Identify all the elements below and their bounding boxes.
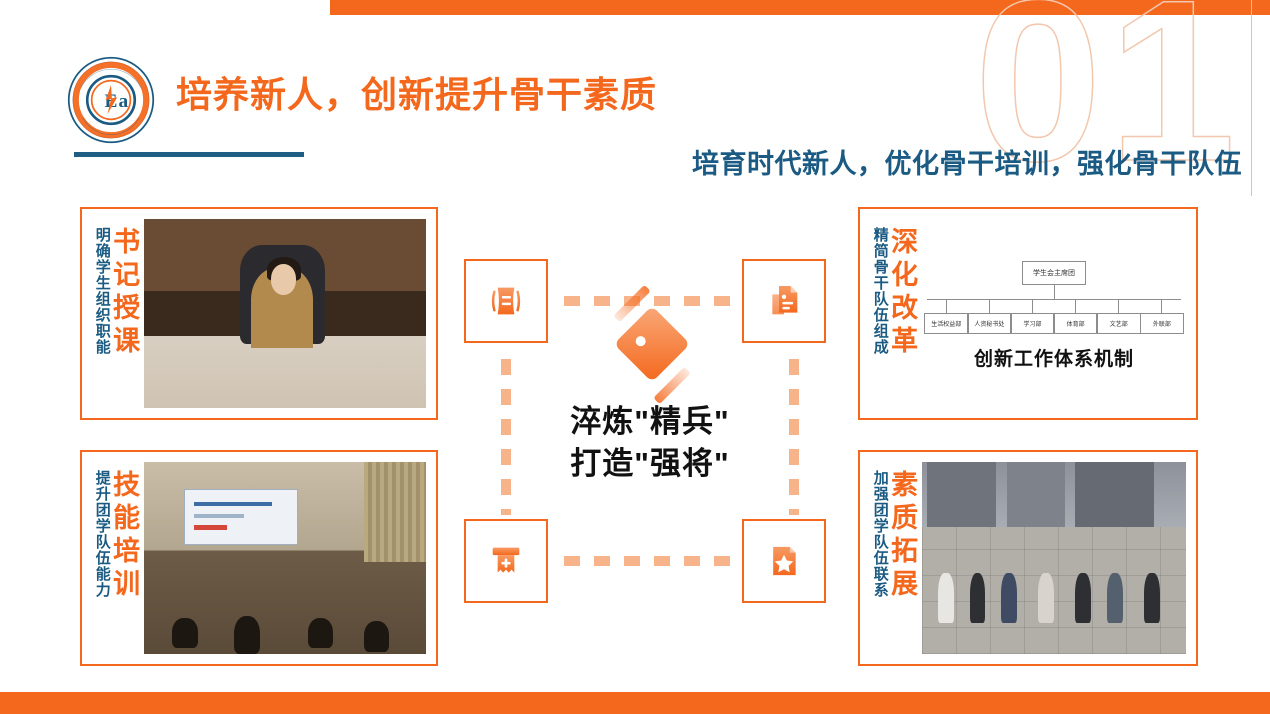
org-connector-drop — [989, 300, 990, 313]
lecture-hall-training-photo — [144, 462, 426, 654]
org-child-node: 学习部 — [1011, 313, 1055, 334]
diagram-node-bottom-right[interactable] — [742, 519, 826, 603]
org-child-node: 人资秘书处 — [968, 313, 1012, 334]
photo-detail-face — [271, 264, 296, 294]
org-child-node: 体育部 — [1054, 313, 1098, 334]
dashed-connector-bottom — [564, 556, 738, 566]
card-party-secretary-lecture[interactable]: 书记授课 明确学生组织职能 — [80, 207, 438, 420]
org-children-row: 生活权益部 人资秘书处 学习部 体育部 — [925, 300, 1184, 334]
photo-detail-building — [927, 462, 996, 527]
page-subtitle: 培育时代新人，优化骨干培训，强化骨干队伍 — [692, 142, 1242, 181]
diagram-node-bottom-left[interactable] — [464, 519, 548, 603]
title-underline-rule — [74, 152, 304, 157]
org-root-node: 学生会主席团 — [1022, 261, 1086, 285]
card-main-label: 技能培训 — [110, 470, 138, 602]
photo-detail-person — [1075, 573, 1091, 623]
photo-detail-projector-screen — [184, 489, 299, 545]
org-connector-drop — [1032, 300, 1033, 313]
photo-detail-person — [970, 573, 986, 623]
org-child-wrap: 人资秘书处 — [968, 300, 1011, 334]
star-document-icon — [764, 541, 804, 581]
photo-detail-audience — [234, 616, 259, 654]
photo-detail-person — [1144, 573, 1160, 623]
photo-detail-person — [1107, 573, 1123, 623]
photo-detail-curtain — [364, 462, 426, 562]
org-child-node: 文艺部 — [1097, 313, 1141, 334]
photo-detail-audience — [172, 618, 197, 649]
center-headline-line-1: 淬炼"精兵" — [510, 401, 790, 443]
receipt-plus-icon — [486, 541, 526, 581]
org-child-wrap: 外联部 — [1140, 300, 1183, 334]
org-connector-drop — [1118, 300, 1119, 313]
org-child-node: 生活权益部 — [924, 313, 968, 334]
center-diagram: 淬炼"精兵" 打造"强将" — [460, 255, 840, 610]
card-media — [922, 452, 1196, 664]
bottom-accent-bar — [0, 692, 1270, 714]
org-child-wrap: 文艺部 — [1097, 300, 1140, 334]
card-main-label: 书记授课 — [110, 227, 138, 359]
card-sub-label: 提升团学队伍能力 — [94, 470, 110, 598]
org-connector-drop — [1161, 300, 1162, 313]
scroll-document-icon — [486, 281, 526, 321]
card-sub-label: 明确学生组织职能 — [94, 227, 110, 355]
org-connector-stem — [1054, 285, 1055, 299]
photo-detail-audience — [308, 618, 333, 649]
org-connector-busbar — [927, 299, 1180, 300]
card-sub-label: 加强团学队伍联系 — [872, 470, 888, 598]
photo-detail-screen-line — [194, 514, 245, 518]
card-skill-training[interactable]: 技能培训 提升团学队伍能力 — [80, 450, 438, 666]
photo-detail-screen-line — [194, 525, 228, 529]
photo-detail-building — [1007, 462, 1065, 527]
photo-detail-person — [1038, 573, 1054, 623]
org-child-wrap: 学习部 — [1011, 300, 1054, 334]
card-main-label: 素质拓展 — [888, 470, 916, 602]
copy-documents-icon — [764, 281, 804, 321]
svg-text:a: a — [118, 91, 128, 112]
photo-detail-person — [938, 573, 954, 623]
org-child-wrap: 生活权益部 — [925, 300, 968, 334]
org-connector-drop — [1075, 300, 1076, 313]
page-title: 培养新人，创新提升骨干素质 — [176, 66, 657, 118]
card-media — [144, 452, 436, 664]
card-media: 学生会主席团 生活权益部 人资秘书处 学习部 — [922, 209, 1196, 418]
presentation-slide: 01 E a 培养新人，创新提升骨干素质 培育时代新人，优化骨干培训，强化骨干队… — [0, 0, 1270, 714]
watermark-vertical-rule — [1251, 0, 1252, 196]
dashed-connector-top — [564, 296, 738, 306]
org-child-wrap: 体育部 — [1054, 300, 1097, 334]
student-union-org-chart: 学生会主席团 生活权益部 人资秘书处 学习部 — [922, 219, 1186, 408]
card-label-group: 书记授课 明确学生组织职能 — [82, 209, 144, 418]
org-chart-caption: 创新工作体系机制 — [974, 344, 1134, 371]
card-label-group: 素质拓展 加强团学队伍联系 — [860, 452, 922, 664]
org-child-node: 外联部 — [1140, 313, 1184, 334]
card-quality-development[interactable]: 素质拓展 加强团学队伍联系 — [858, 450, 1198, 666]
card-deepen-reform[interactable]: 深化改革 精简骨干队伍组成 学生会主席团 生活权益部 人资秘书处 — [858, 207, 1198, 420]
photo-detail-building — [1075, 462, 1154, 527]
diamond-badge-dot — [636, 336, 646, 346]
outdoor-group-activity-photo — [922, 462, 1186, 654]
center-headline: 淬炼"精兵" 打造"强将" — [510, 401, 790, 485]
university-logo: E a — [67, 56, 155, 144]
speaker-at-desk-photo — [144, 219, 426, 408]
org-connector-drop — [946, 300, 947, 313]
diagram-node-top-right[interactable] — [742, 259, 826, 343]
photo-detail-audience — [364, 621, 389, 652]
card-label-group: 技能培训 提升团学队伍能力 — [82, 452, 144, 664]
photo-detail-person — [1001, 573, 1017, 623]
card-label-group: 深化改革 精简骨干队伍组成 — [860, 209, 922, 418]
card-main-label: 深化改革 — [888, 227, 916, 359]
photo-detail-screen-line — [194, 502, 273, 506]
card-media — [144, 209, 436, 418]
diagram-node-top-left[interactable] — [464, 259, 548, 343]
center-headline-line-2: 打造"强将" — [510, 443, 790, 485]
card-sub-label: 精简骨干队伍组成 — [872, 227, 888, 355]
dashed-connector-right — [789, 359, 799, 515]
